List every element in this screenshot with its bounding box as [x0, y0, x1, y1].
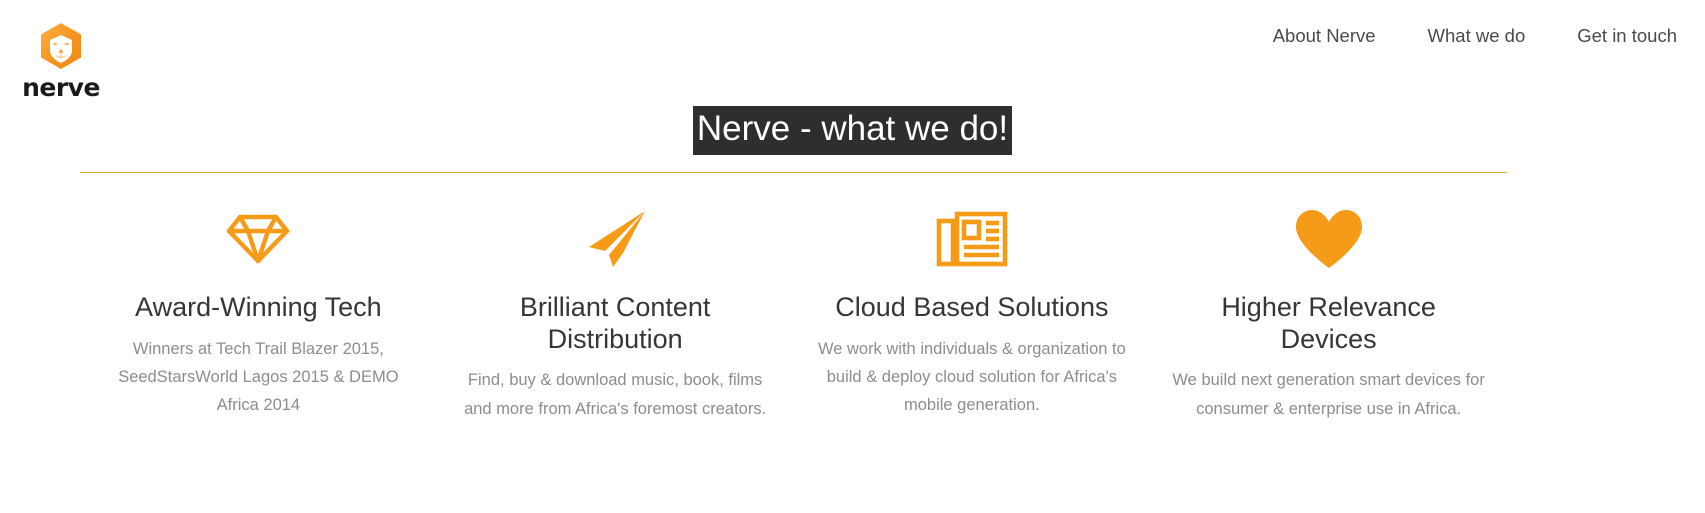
feature-title: Award-Winning Tech — [102, 292, 415, 324]
feature-card: Brilliant Content Distribution Find, buy… — [437, 200, 794, 423]
page-title-container: Nerve - what we do! — [0, 106, 1705, 155]
feature-description: Find, buy & download music, book, films … — [459, 366, 772, 423]
heart-icon — [1172, 200, 1485, 278]
nav-link-about-nerve[interactable]: About Nerve — [1273, 25, 1376, 47]
page-title: Nerve - what we do! — [693, 106, 1012, 155]
brand-logo-link[interactable]: nerve — [22, 22, 100, 100]
primary-navigation: About Nerve What we do Get in touch — [1273, 25, 1677, 47]
site-header: nerve About Nerve What we do Get in touc… — [0, 0, 1705, 100]
nav-link-get-in-touch[interactable]: Get in touch — [1577, 25, 1677, 47]
newspaper-icon — [816, 200, 1129, 278]
feature-card: Cloud Based Solutions We work with indiv… — [794, 200, 1151, 420]
nav-link-what-we-do[interactable]: What we do — [1428, 25, 1526, 47]
feature-card: Award-Winning Tech Winners at Tech Trail… — [80, 200, 437, 420]
feature-card: Higher Relevance Devices We build next g… — [1150, 200, 1507, 423]
feature-description: We build next generation smart devices f… — [1172, 366, 1485, 423]
diamond-icon — [102, 200, 415, 278]
feature-title: Brilliant Content Distribution — [459, 292, 772, 355]
feature-description: We work with individuals & organization … — [816, 335, 1129, 420]
feature-description: Winners at Tech Trail Blazer 2015, SeedS… — [102, 335, 415, 420]
paper-plane-icon — [459, 200, 772, 278]
nerve-lion-hexagon-logo-icon — [37, 22, 85, 74]
feature-title: Cloud Based Solutions — [816, 292, 1129, 324]
section-divider — [80, 172, 1507, 173]
feature-title: Higher Relevance Devices — [1172, 292, 1485, 355]
brand-wordmark: nerve — [22, 75, 100, 100]
features-section: Award-Winning Tech Winners at Tech Trail… — [80, 200, 1507, 423]
